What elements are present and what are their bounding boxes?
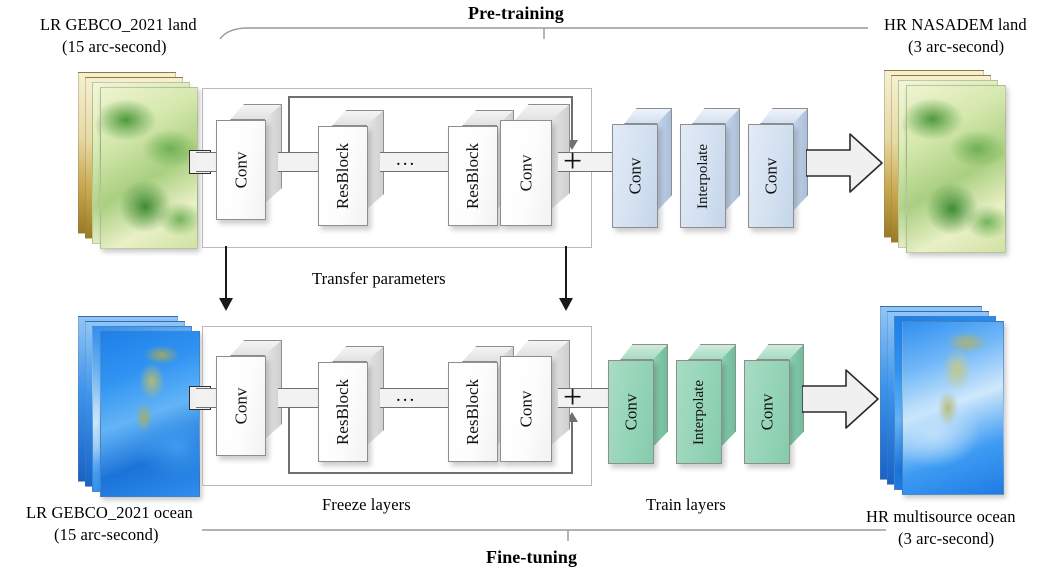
- block-label: Conv: [231, 152, 251, 189]
- block-label: Conv: [516, 155, 536, 192]
- skip-connection-bottom-horizontal: [288, 472, 572, 474]
- output-image-top: [884, 70, 1014, 256]
- block-label: Conv: [621, 394, 641, 431]
- transfer-arrow-left: [216, 246, 236, 312]
- block-conv-head-top-2: Conv: [748, 108, 808, 228]
- block-label: Conv: [231, 388, 251, 425]
- phase-title-top: Pre-training: [468, 2, 564, 25]
- skip-connection-top-right: [571, 96, 573, 142]
- output-label-bottom-resolution: (3 arc-second): [898, 528, 994, 549]
- block-label: Conv: [516, 391, 536, 428]
- output-label-bottom-title: HR multisource ocean: [866, 506, 1016, 527]
- block-label: Conv: [625, 158, 645, 195]
- block-interpolate-top: Interpolate: [680, 108, 740, 228]
- phase-bracket-bottom: [200, 528, 888, 542]
- block-label: ResBlock: [333, 143, 353, 209]
- input-label-bottom-title: LR GEBCO_2021 ocean: [26, 502, 193, 523]
- skip-connection-bottom-right: [571, 420, 573, 474]
- diagram-canvas: Pre-training LR GEBCO_2021 land (15 arc-…: [0, 0, 1054, 578]
- skip-connection-top-horizontal: [288, 96, 572, 98]
- output-image-bottom: [880, 306, 1014, 498]
- output-arrow-bottom: [802, 366, 880, 432]
- train-layers-label: Train layers: [646, 494, 726, 515]
- block-conv-head-bottom-1: Conv: [608, 344, 668, 464]
- output-arrow-top: [806, 130, 884, 196]
- input-label-top-resolution: (15 arc-second): [62, 36, 167, 57]
- block-interpolate-bottom: Interpolate: [676, 344, 736, 464]
- output-label-top-title: HR NASADEM land: [884, 14, 1027, 35]
- wire-bottom-2: [380, 388, 456, 408]
- add-node-top: +: [563, 145, 582, 179]
- block-label: Interpolate: [691, 380, 708, 445]
- block-label: Interpolate: [695, 144, 712, 209]
- add-node-bottom: +: [563, 381, 582, 415]
- freeze-layers-label: Freeze layers: [322, 494, 411, 515]
- phase-title-bottom: Fine-tuning: [486, 546, 577, 569]
- block-resblock-top-1: ResBlock: [318, 110, 384, 226]
- skip-connection-top-left: [288, 96, 290, 154]
- output-label-top-resolution: (3 arc-second): [908, 36, 1004, 57]
- block-conv-head-top-1: Conv: [612, 108, 672, 228]
- block-label: ResBlock: [463, 379, 483, 445]
- block-conv-head-bottom-2: Conv: [744, 344, 804, 464]
- wire-top-2: [380, 152, 456, 172]
- block-label: ResBlock: [333, 379, 353, 445]
- input-label-top-title: LR GEBCO_2021 land: [40, 14, 197, 35]
- transfer-arrow-right: [556, 246, 576, 312]
- block-label: Conv: [757, 394, 777, 431]
- ellipsis-top: ...: [396, 148, 416, 173]
- input-label-bottom-resolution: (15 arc-second): [54, 524, 159, 545]
- skip-connection-bottom-left: [288, 408, 290, 474]
- block-conv-top-1: Conv: [216, 104, 282, 220]
- phase-bracket-top: [218, 26, 870, 40]
- block-label: Conv: [761, 158, 781, 195]
- block-label: ResBlock: [463, 143, 483, 209]
- block-resblock-bottom-1: ResBlock: [318, 346, 384, 462]
- block-conv-bottom-1: Conv: [216, 340, 282, 456]
- transfer-parameters-label: Transfer parameters: [312, 268, 446, 289]
- ellipsis-bottom: ...: [396, 384, 416, 409]
